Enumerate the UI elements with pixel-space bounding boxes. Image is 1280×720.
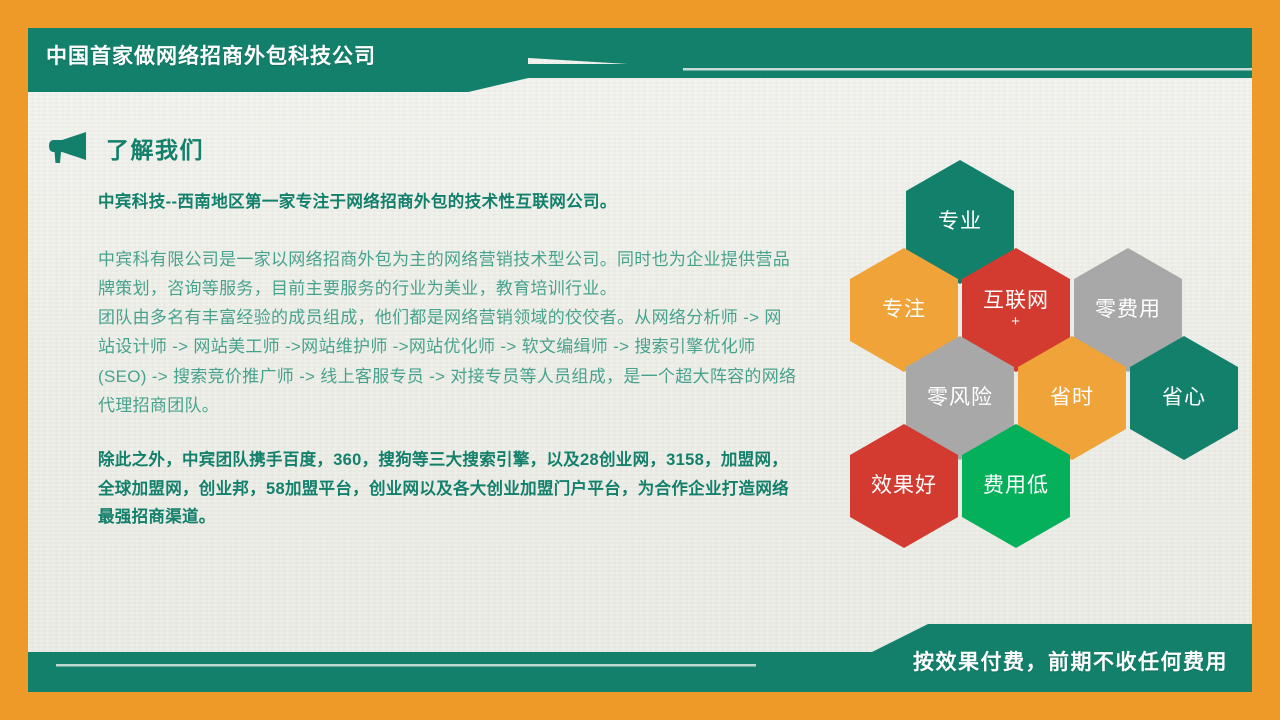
section-heading: 了解我们 — [48, 130, 204, 166]
hexagon-label: 零风险 — [927, 386, 993, 410]
hexagon-label: 专业 — [938, 210, 982, 234]
megaphone-icon — [48, 130, 92, 166]
body-paragraph-1: 中宾科有限公司是一家以网络招商外包为主的网络营销技术型公司。同时也为企业提供营品… — [98, 245, 798, 303]
hexagon-label: 互联网 — [983, 289, 1049, 313]
hexagon-label: 零费用 — [1095, 298, 1161, 322]
body-lead-line: 中宾科技--西南地区第一家专注于网络招商外包的技术性互联网公司。 — [98, 190, 798, 215]
hexagon-label: 省时 — [1050, 386, 1094, 410]
hexagon-label: 效果好 — [871, 474, 937, 498]
section-title-label: 了解我们 — [106, 131, 204, 165]
body-text-column: 中宾科技--西南地区第一家专注于网络招商外包的技术性互联网公司。 中宾科有限公司… — [98, 190, 798, 531]
hexagon-label: 费用低 — [983, 474, 1049, 498]
hexagon-label: 省心 — [1162, 386, 1206, 410]
header-title: 中国首家做网络招商外包科技公司 — [46, 40, 376, 70]
body-paragraph-2: 团队由多名有丰富经验的成员组成，他们都是网络营销领域的佼佼者。从网络分析师 ->… — [98, 303, 798, 420]
slide-root: 中国首家做网络招商外包科技公司 了解我们 中宾科技--西南地区第一家专注于网络招… — [0, 0, 1280, 720]
hexagon-cluster: 专业专注互联网+零费用零风险省时省心效果好费用低 — [836, 160, 1236, 540]
header-bar: 中国首家做网络招商外包科技公司 — [28, 28, 1252, 92]
hexagon-label: 专注 — [882, 298, 926, 322]
hexagon-sublabel: + — [1011, 313, 1021, 331]
footer-tagline: 按效果付费，前期不收任何费用 — [913, 646, 1228, 676]
footer-bar: 按效果付费，前期不收任何费用 — [28, 624, 1252, 692]
body-closing-paragraph: 除此之外，中宾团队携手百度，360，搜狗等三大搜索引擎，以及28创业网，3158… — [98, 446, 798, 531]
